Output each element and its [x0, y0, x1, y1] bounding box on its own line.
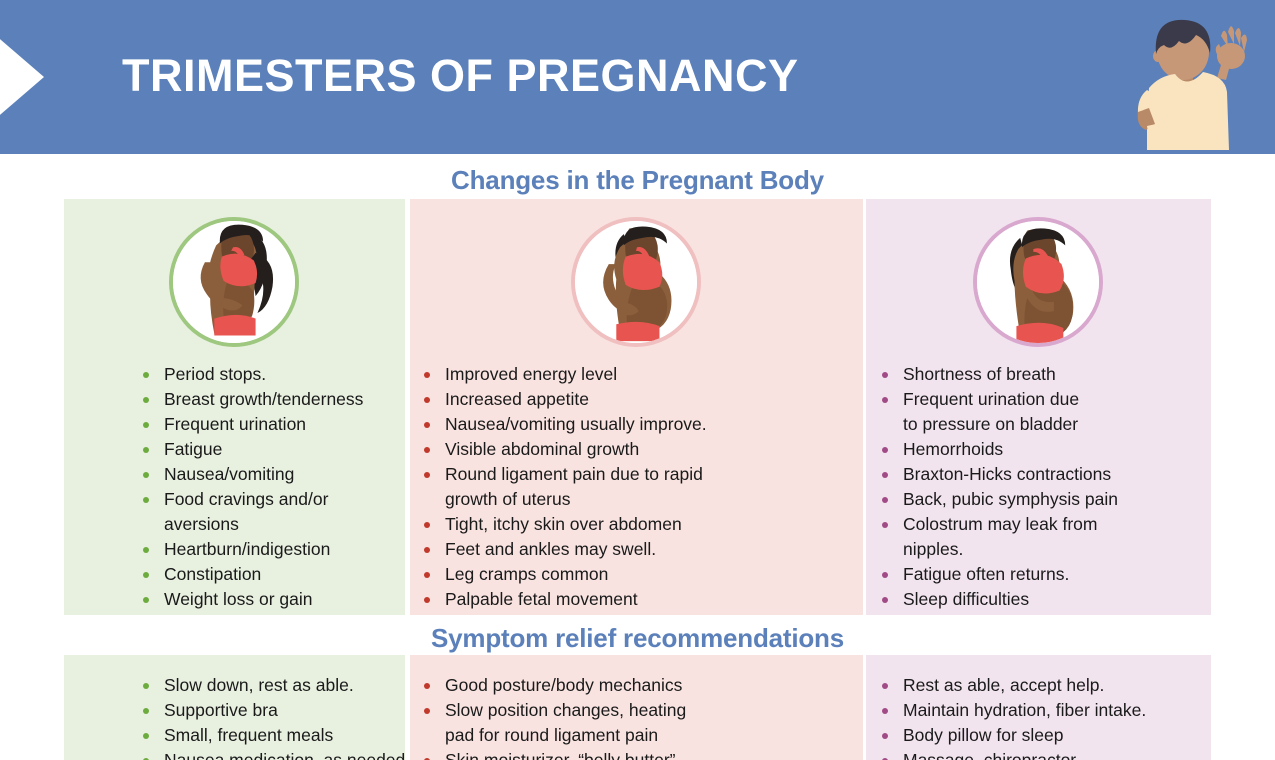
panel-changes-third-trimester: Shortness of breathFrequent urination du…: [866, 199, 1211, 615]
panel-relief-first-trimester: Slow down, rest as able.Supportive braSm…: [64, 655, 405, 760]
list-item: Feet and ankles may swell.: [423, 537, 707, 562]
panel-relief-second-trimester: Good posture/body mechanicsSlow position…: [410, 655, 863, 760]
list-item: Palpable fetal movement: [423, 587, 707, 612]
page-header: TRIMESTERS OF PREGNANCY: [0, 0, 1275, 154]
section-heading-relief: Symptom relief recommendations: [0, 623, 1275, 654]
list-item: Back, pubic symphysis pain: [881, 487, 1118, 512]
list-item: Tight, itchy skin over abdomen: [423, 512, 707, 537]
panel-changes-first-trimester: Period stops.Breast growth/tendernessFre…: [64, 199, 405, 615]
list-item: Braxton-Hicks contractions: [881, 462, 1118, 487]
list-item: Colostrum may leak from: [881, 512, 1118, 537]
first-trimester-illustration-icon: [173, 221, 295, 343]
list-item: Leg cramps common: [423, 562, 707, 587]
list-item: Increased appetite: [423, 387, 707, 412]
list-item: Frequent urination: [142, 412, 363, 437]
list-item: Skin moisturizer, “belly butter”: [423, 748, 686, 760]
list-item: Breast growth/tenderness: [142, 387, 363, 412]
list-item: Period stops.: [142, 362, 363, 387]
list-item: Massage, chiropractor: [881, 748, 1146, 760]
list-item: Good posture/body mechanics: [423, 673, 686, 698]
list-item: Slow position changes, heating: [423, 698, 686, 723]
list-item: Small, frequent meals: [142, 723, 405, 748]
third-trimester-body-image: [973, 217, 1103, 347]
list-item: Fatigue often returns.: [881, 562, 1118, 587]
first-trimester-body-image: [169, 217, 299, 347]
list-item: Nausea/vomiting usually improve.: [423, 412, 707, 437]
list-item: Constipation: [142, 562, 363, 587]
list-item: Fatigue: [142, 437, 363, 462]
list-item: Nausea/vomiting: [142, 462, 363, 487]
list-item: Rest as able, accept help.: [881, 673, 1146, 698]
list-item: Nausea medication, as needed: [142, 748, 405, 760]
second-trimester-body-image: [571, 217, 701, 347]
list-item: Body pillow for sleep: [881, 723, 1146, 748]
waving-person-icon: [1125, 14, 1257, 154]
list-item: Slow down, rest as able.: [142, 673, 405, 698]
panel-relief-third-trimester: Rest as able, accept help.Maintain hydra…: [866, 655, 1211, 760]
list-item: aversions: [142, 512, 363, 537]
panel-changes-second-trimester: Improved energy levelIncreased appetiteN…: [410, 199, 863, 615]
list-item: Visible abdominal growth: [423, 437, 707, 462]
list-item: Shortness of breath: [881, 362, 1118, 387]
section-heading-changes: Changes in the Pregnant Body: [0, 165, 1275, 196]
changes-list-second-trimester: Improved energy levelIncreased appetiteN…: [423, 362, 707, 612]
list-item: growth of uterus: [423, 487, 707, 512]
list-item: pad for round ligament pain: [423, 723, 686, 748]
list-item: to pressure on bladder: [881, 412, 1118, 437]
list-item: Improved energy level: [423, 362, 707, 387]
list-item: Round ligament pain due to rapid: [423, 462, 707, 487]
relief-list-first-trimester: Slow down, rest as able.Supportive braSm…: [142, 673, 405, 760]
relief-list-third-trimester: Rest as able, accept help.Maintain hydra…: [881, 673, 1146, 760]
list-item: Hemorrhoids: [881, 437, 1118, 462]
chevron-right-arrow-icon: [0, 27, 46, 127]
changes-list-first-trimester: Period stops.Breast growth/tendernessFre…: [142, 362, 363, 612]
third-trimester-illustration-icon: [977, 221, 1099, 343]
relief-list-second-trimester: Good posture/body mechanicsSlow position…: [423, 673, 686, 760]
list-item: Supportive bra: [142, 698, 405, 723]
list-item: nipples.: [881, 537, 1118, 562]
changes-list-third-trimester: Shortness of breathFrequent urination du…: [881, 362, 1118, 612]
list-item: Weight loss or gain: [142, 587, 363, 612]
list-item: Food cravings and/or: [142, 487, 363, 512]
list-item: Maintain hydration, fiber intake.: [881, 698, 1146, 723]
list-item: Frequent urination due: [881, 387, 1118, 412]
list-item: Sleep difficulties: [881, 587, 1118, 612]
second-trimester-illustration-icon: [575, 221, 697, 343]
page-title: TRIMESTERS OF PREGNANCY: [122, 50, 799, 102]
list-item: Heartburn/indigestion: [142, 537, 363, 562]
